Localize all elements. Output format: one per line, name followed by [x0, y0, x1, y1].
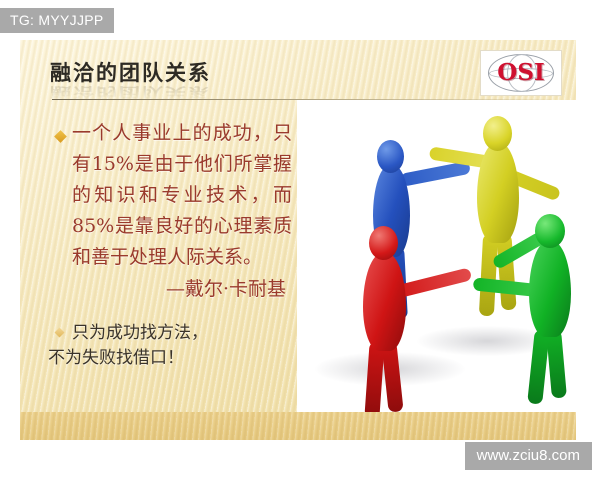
teamwork-image-panel: [297, 100, 576, 425]
figure-leg: [546, 329, 567, 398]
motto-line-2-text: 不为失败找借口！: [34, 346, 296, 371]
quote-attribution: —戴尔·卡耐基: [34, 273, 296, 305]
slide-text-column: 一个人事业上的成功，只有15%是由于他们所掌握的知识和专业技术，而85%是靠良好…: [34, 118, 296, 371]
quote-text: 一个人事业上的成功，只有15%是由于他们所掌握的知识和专业技术，而85%是靠良好…: [34, 118, 296, 273]
osi-logo: OSI: [480, 50, 562, 96]
page-title: 融洽的团队关系: [50, 58, 510, 88]
slide-bottom-band: [20, 412, 576, 440]
figure-body: [529, 241, 571, 337]
watermark-top-left: TG: MYYJJPP: [0, 8, 114, 33]
figure-head: [483, 116, 512, 151]
logo-text: OSI: [481, 61, 561, 85]
bullet-item-quote: 一个人事业上的成功，只有15%是由于他们所掌握的知识和专业技术，而85%是靠良好…: [34, 118, 296, 305]
watermark-bottom-right: www.zciu8.com: [465, 442, 592, 470]
figure-leg: [381, 341, 403, 412]
bullet-item-motto: 只为成功找方法， 不为失败找借口！: [34, 321, 296, 371]
green-figure: [493, 210, 576, 410]
figure-head: [369, 226, 398, 260]
presentation-slide: 融洽的团队关系 融洽的团队关系 OSI 一个人事业上的成功，只有15%是由于他们…: [20, 40, 576, 440]
red-figure: [345, 220, 485, 420]
figure-body: [363, 253, 406, 351]
figure-head: [377, 140, 404, 173]
motto-line-1: 只为成功找方法，: [34, 321, 296, 346]
motto-line-2: 不为失败找借口！: [34, 346, 296, 371]
figure-head: [535, 214, 565, 248]
